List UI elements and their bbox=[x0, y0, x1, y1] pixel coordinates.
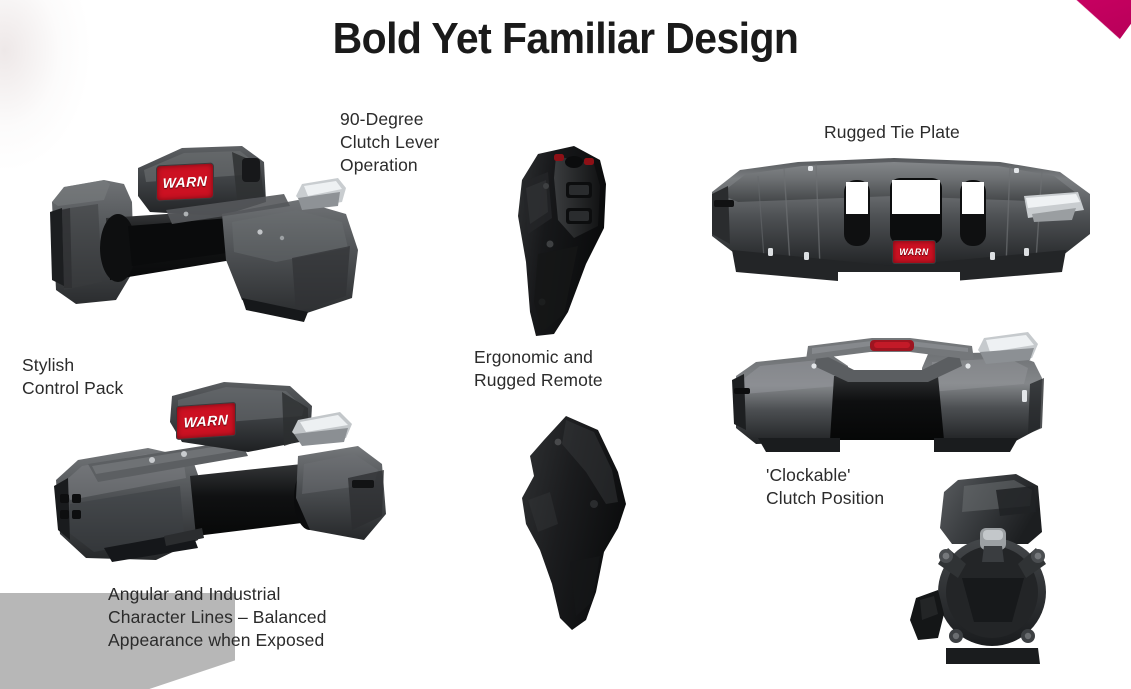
callout-label-character-lines: Angular and Industrial Character Lines –… bbox=[108, 583, 327, 652]
product-image-winch-top: WARN bbox=[46, 140, 386, 325]
callout-label-clutch-lever: 90-Degree Clutch Lever Operation bbox=[340, 108, 439, 177]
warn-badge: WARN bbox=[892, 240, 936, 264]
product-image-remote bbox=[508, 142, 630, 340]
slide-title: Bold Yet Familiar Design bbox=[40, 14, 1092, 64]
callout-label-remote: Ergonomic and Rugged Remote bbox=[474, 346, 603, 392]
callout-label-clockable: 'Clockable' Clutch Position bbox=[766, 464, 884, 510]
callout-label-control-pack: Stylish Control Pack bbox=[22, 354, 123, 400]
warn-badge-text: WARN bbox=[163, 174, 208, 190]
warn-badge-text: WARN bbox=[899, 248, 929, 257]
product-image-winch-bottom: WARN bbox=[52, 382, 392, 572]
product-image-tie-plate: WARN bbox=[698, 152, 1102, 292]
product-image-grip bbox=[500, 412, 642, 642]
product-image-front-view bbox=[722, 332, 1054, 452]
warn-badge-text: WARN bbox=[184, 412, 229, 429]
callout-label-tie-plate: Rugged Tie Plate bbox=[824, 121, 960, 144]
warn-badge: WARN bbox=[176, 402, 236, 440]
product-image-end-view bbox=[900, 472, 1062, 672]
warn-badge: WARN bbox=[156, 162, 214, 201]
slide-canvas: Bold Yet Familiar Design bbox=[0, 0, 1131, 689]
